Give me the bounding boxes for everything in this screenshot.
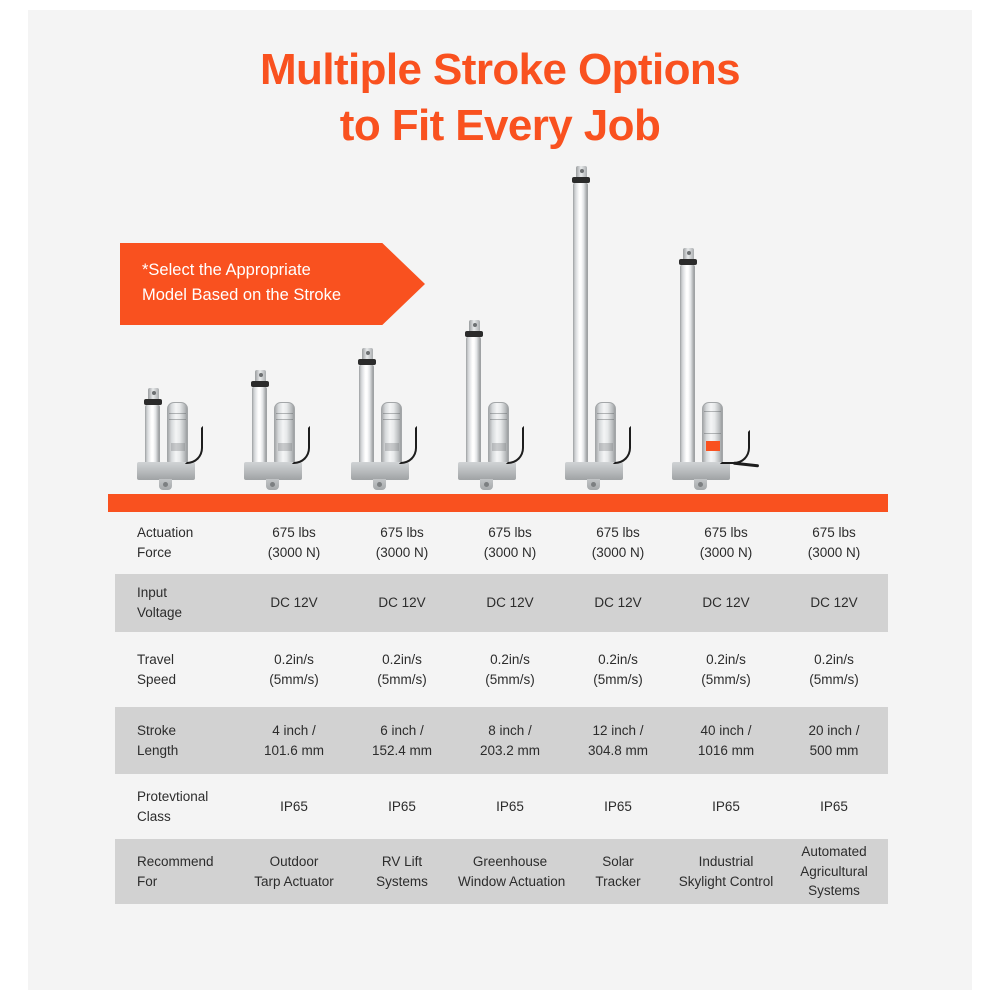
table-row: Protevtional Class IP65 IP65 IP65 IP65 I… [115, 774, 888, 839]
table-cell: 40 inch /1016 mm [672, 719, 780, 762]
table-cell: 675 lbs(3000 N) [564, 521, 672, 564]
table-cell: 675 lbs(3000 N) [348, 521, 456, 564]
mount-bracket [244, 462, 302, 480]
table-cell: IP65 [456, 795, 564, 819]
rear-mount-foot [694, 479, 707, 490]
power-cable [506, 426, 524, 464]
clevis-icon [683, 248, 694, 259]
orange-divider-bar [108, 494, 888, 512]
rear-mount-foot [587, 479, 600, 490]
rear-mount-foot [266, 479, 279, 490]
clevis-icon [255, 370, 266, 381]
power-cable [292, 426, 310, 464]
table-cell: RV LiftSystems [348, 850, 456, 893]
product-image-strip [115, 150, 888, 490]
table-cell: 0.2in/s(5mm/s) [456, 648, 564, 691]
product-image-8-inch [329, 350, 435, 490]
product-image-4-inch [115, 390, 221, 490]
table-cell: DC 12V [672, 591, 780, 615]
row-label: Travel Speed [115, 648, 240, 691]
clevis-icon [362, 348, 373, 359]
mount-bracket [672, 462, 730, 480]
actuator-tube [680, 265, 695, 468]
power-cable [720, 430, 750, 464]
table-cell: DC 12V [780, 591, 888, 615]
table-cell: 0.2in/s(5mm/s) [564, 648, 672, 691]
table-cell: 20 inch /500 mm [780, 719, 888, 762]
actuator-tube [573, 183, 588, 468]
table-cell: 12 inch /304.8 mm [564, 719, 672, 762]
product-image-12-inch [436, 322, 542, 490]
table-cell: IP65 [240, 795, 348, 819]
actuator-tube [359, 365, 374, 468]
table-row: Input Voltage DC 12V DC 12V DC 12V DC 12… [115, 574, 888, 632]
clevis-icon [576, 166, 587, 177]
rear-mount-foot [373, 479, 386, 490]
row-label: Stroke Length [115, 719, 240, 762]
page-title: Multiple Stroke Options to Fit Every Job [0, 42, 1000, 155]
power-cable-tail [733, 462, 759, 468]
page-title-line-2: to Fit Every Job [0, 98, 1000, 154]
table-cell: IP65 [348, 795, 456, 819]
actuator-tube [145, 405, 160, 468]
row-label: Recommend For [115, 850, 240, 893]
product-image-20-inch [650, 250, 756, 490]
table-cell: OutdoorTarp Actuator [240, 850, 348, 893]
clevis-icon [469, 320, 480, 331]
table-cell: 8 inch /203.2 mm [456, 719, 564, 762]
table-cell: 0.2in/s(5mm/s) [348, 648, 456, 691]
table-cell: 0.2in/s(5mm/s) [780, 648, 888, 691]
mount-bracket [137, 462, 195, 480]
table-cell: SolarTracker [564, 850, 672, 893]
table-cell: DC 12V [456, 591, 564, 615]
table-cell: 675 lbs(3000 N) [456, 521, 564, 564]
table-cell: AutomatedAgriculturalSystems [780, 840, 888, 903]
mount-bracket [565, 462, 623, 480]
spec-comparison-table: Actuation Force 675 lbs(3000 N) 675 lbs(… [115, 512, 888, 904]
table-cell: IndustrialSkylight Control [672, 850, 780, 893]
table-cell: DC 12V [564, 591, 672, 615]
product-image-6-inch [222, 372, 328, 490]
table-row: Travel Speed 0.2in/s(5mm/s) 0.2in/s(5mm/… [115, 632, 888, 707]
table-cell: 6 inch /152.4 mm [348, 719, 456, 762]
table-cell: DC 12V [348, 591, 456, 615]
table-cell: IP65 [564, 795, 672, 819]
power-cable [185, 426, 203, 464]
mount-bracket [351, 462, 409, 480]
actuator-tube [466, 337, 481, 468]
table-row: Stroke Length 4 inch /101.6 mm 6 inch /1… [115, 707, 888, 774]
table-cell: DC 12V [240, 591, 348, 615]
table-cell: GreenhouseWindow Actuation [456, 850, 564, 893]
clevis-icon [148, 388, 159, 399]
row-label: Protevtional Class [115, 785, 240, 828]
table-row: Recommend For OutdoorTarp Actuator RV Li… [115, 839, 888, 904]
row-label: Actuation Force [115, 521, 240, 564]
page-title-line-1: Multiple Stroke Options [0, 42, 1000, 98]
actuator-tube [252, 387, 267, 468]
table-cell: IP65 [780, 795, 888, 819]
mount-bracket [458, 462, 516, 480]
rear-mount-foot [480, 479, 493, 490]
table-cell: 675 lbs(3000 N) [240, 521, 348, 564]
table-cell: 675 lbs(3000 N) [780, 521, 888, 564]
table-row: Actuation Force 675 lbs(3000 N) 675 lbs(… [115, 512, 888, 574]
infographic-page: Multiple Stroke Options to Fit Every Job… [0, 0, 1000, 1000]
table-cell: 0.2in/s(5mm/s) [672, 648, 780, 691]
product-image-40-inch [543, 168, 649, 490]
table-cell: 675 lbs(3000 N) [672, 521, 780, 564]
rear-mount-foot [159, 479, 172, 490]
power-cable [399, 426, 417, 464]
table-cell: 0.2in/s(5mm/s) [240, 648, 348, 691]
row-label: Input Voltage [115, 581, 240, 624]
table-cell: IP65 [672, 795, 780, 819]
power-cable [613, 426, 631, 464]
table-cell: 4 inch /101.6 mm [240, 719, 348, 762]
